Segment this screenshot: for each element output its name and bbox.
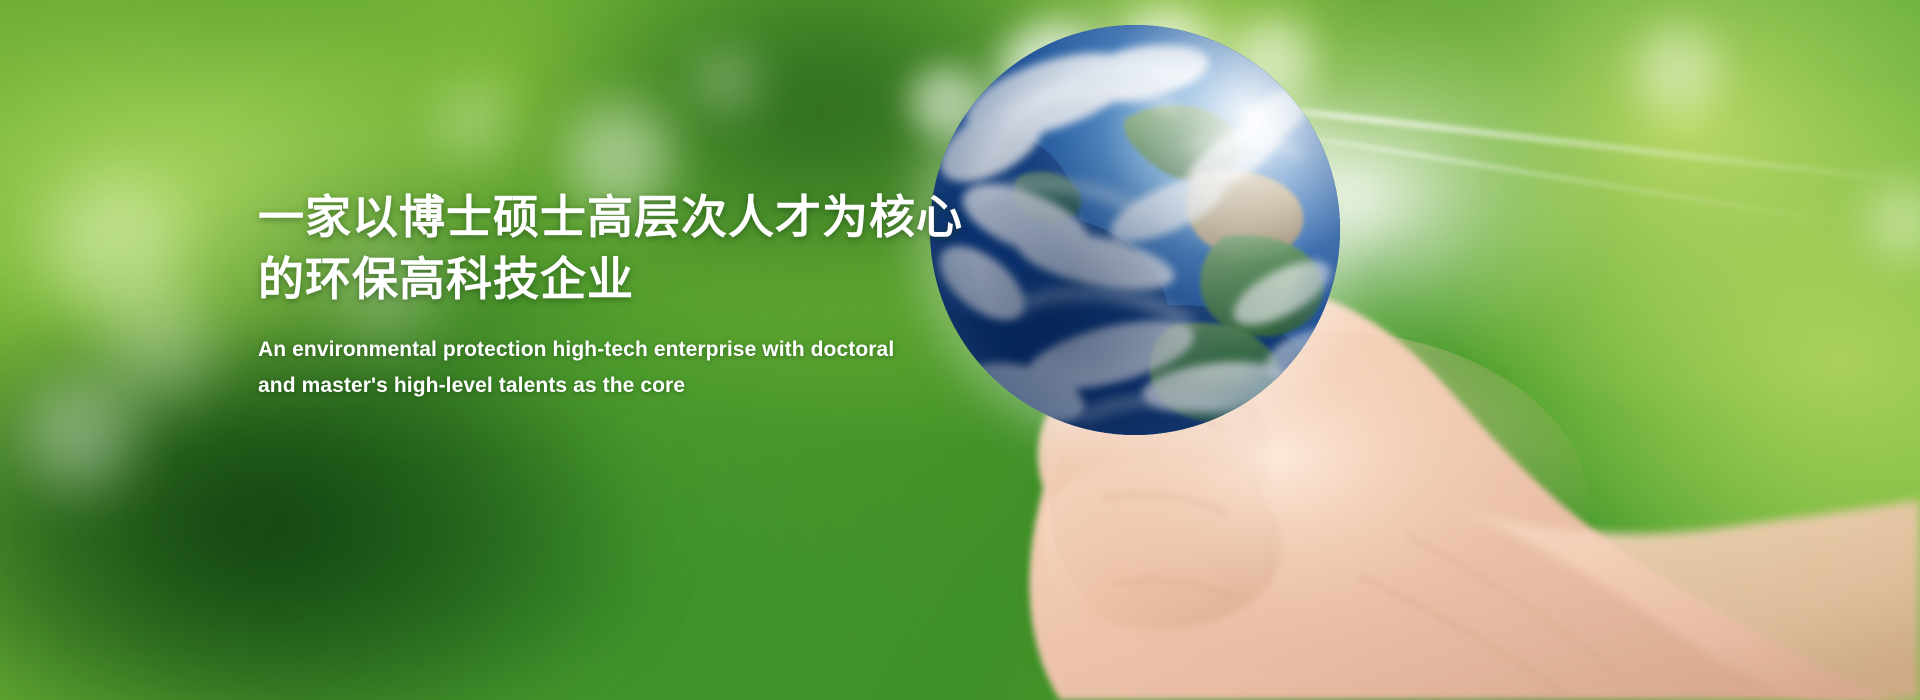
banner-copy: 一家以博士硕士高层次人才为核心 的环保高科技企业 An environmenta… — [258, 186, 1018, 404]
headline-line-2: 的环保高科技企业 — [258, 248, 1018, 310]
hero-banner: 一家以博士硕士高层次人才为核心 的环保高科技企业 An environmenta… — [0, 0, 1920, 700]
subtitle-line-1: An environmental protection high-tech en… — [258, 332, 1018, 368]
subtitle-block: An environmental protection high-tech en… — [258, 332, 1018, 404]
subtitle-line-2: and master's high-level talents as the c… — [258, 368, 1018, 404]
headline-line-1: 一家以博士硕士高层次人才为核心 — [258, 186, 1018, 248]
